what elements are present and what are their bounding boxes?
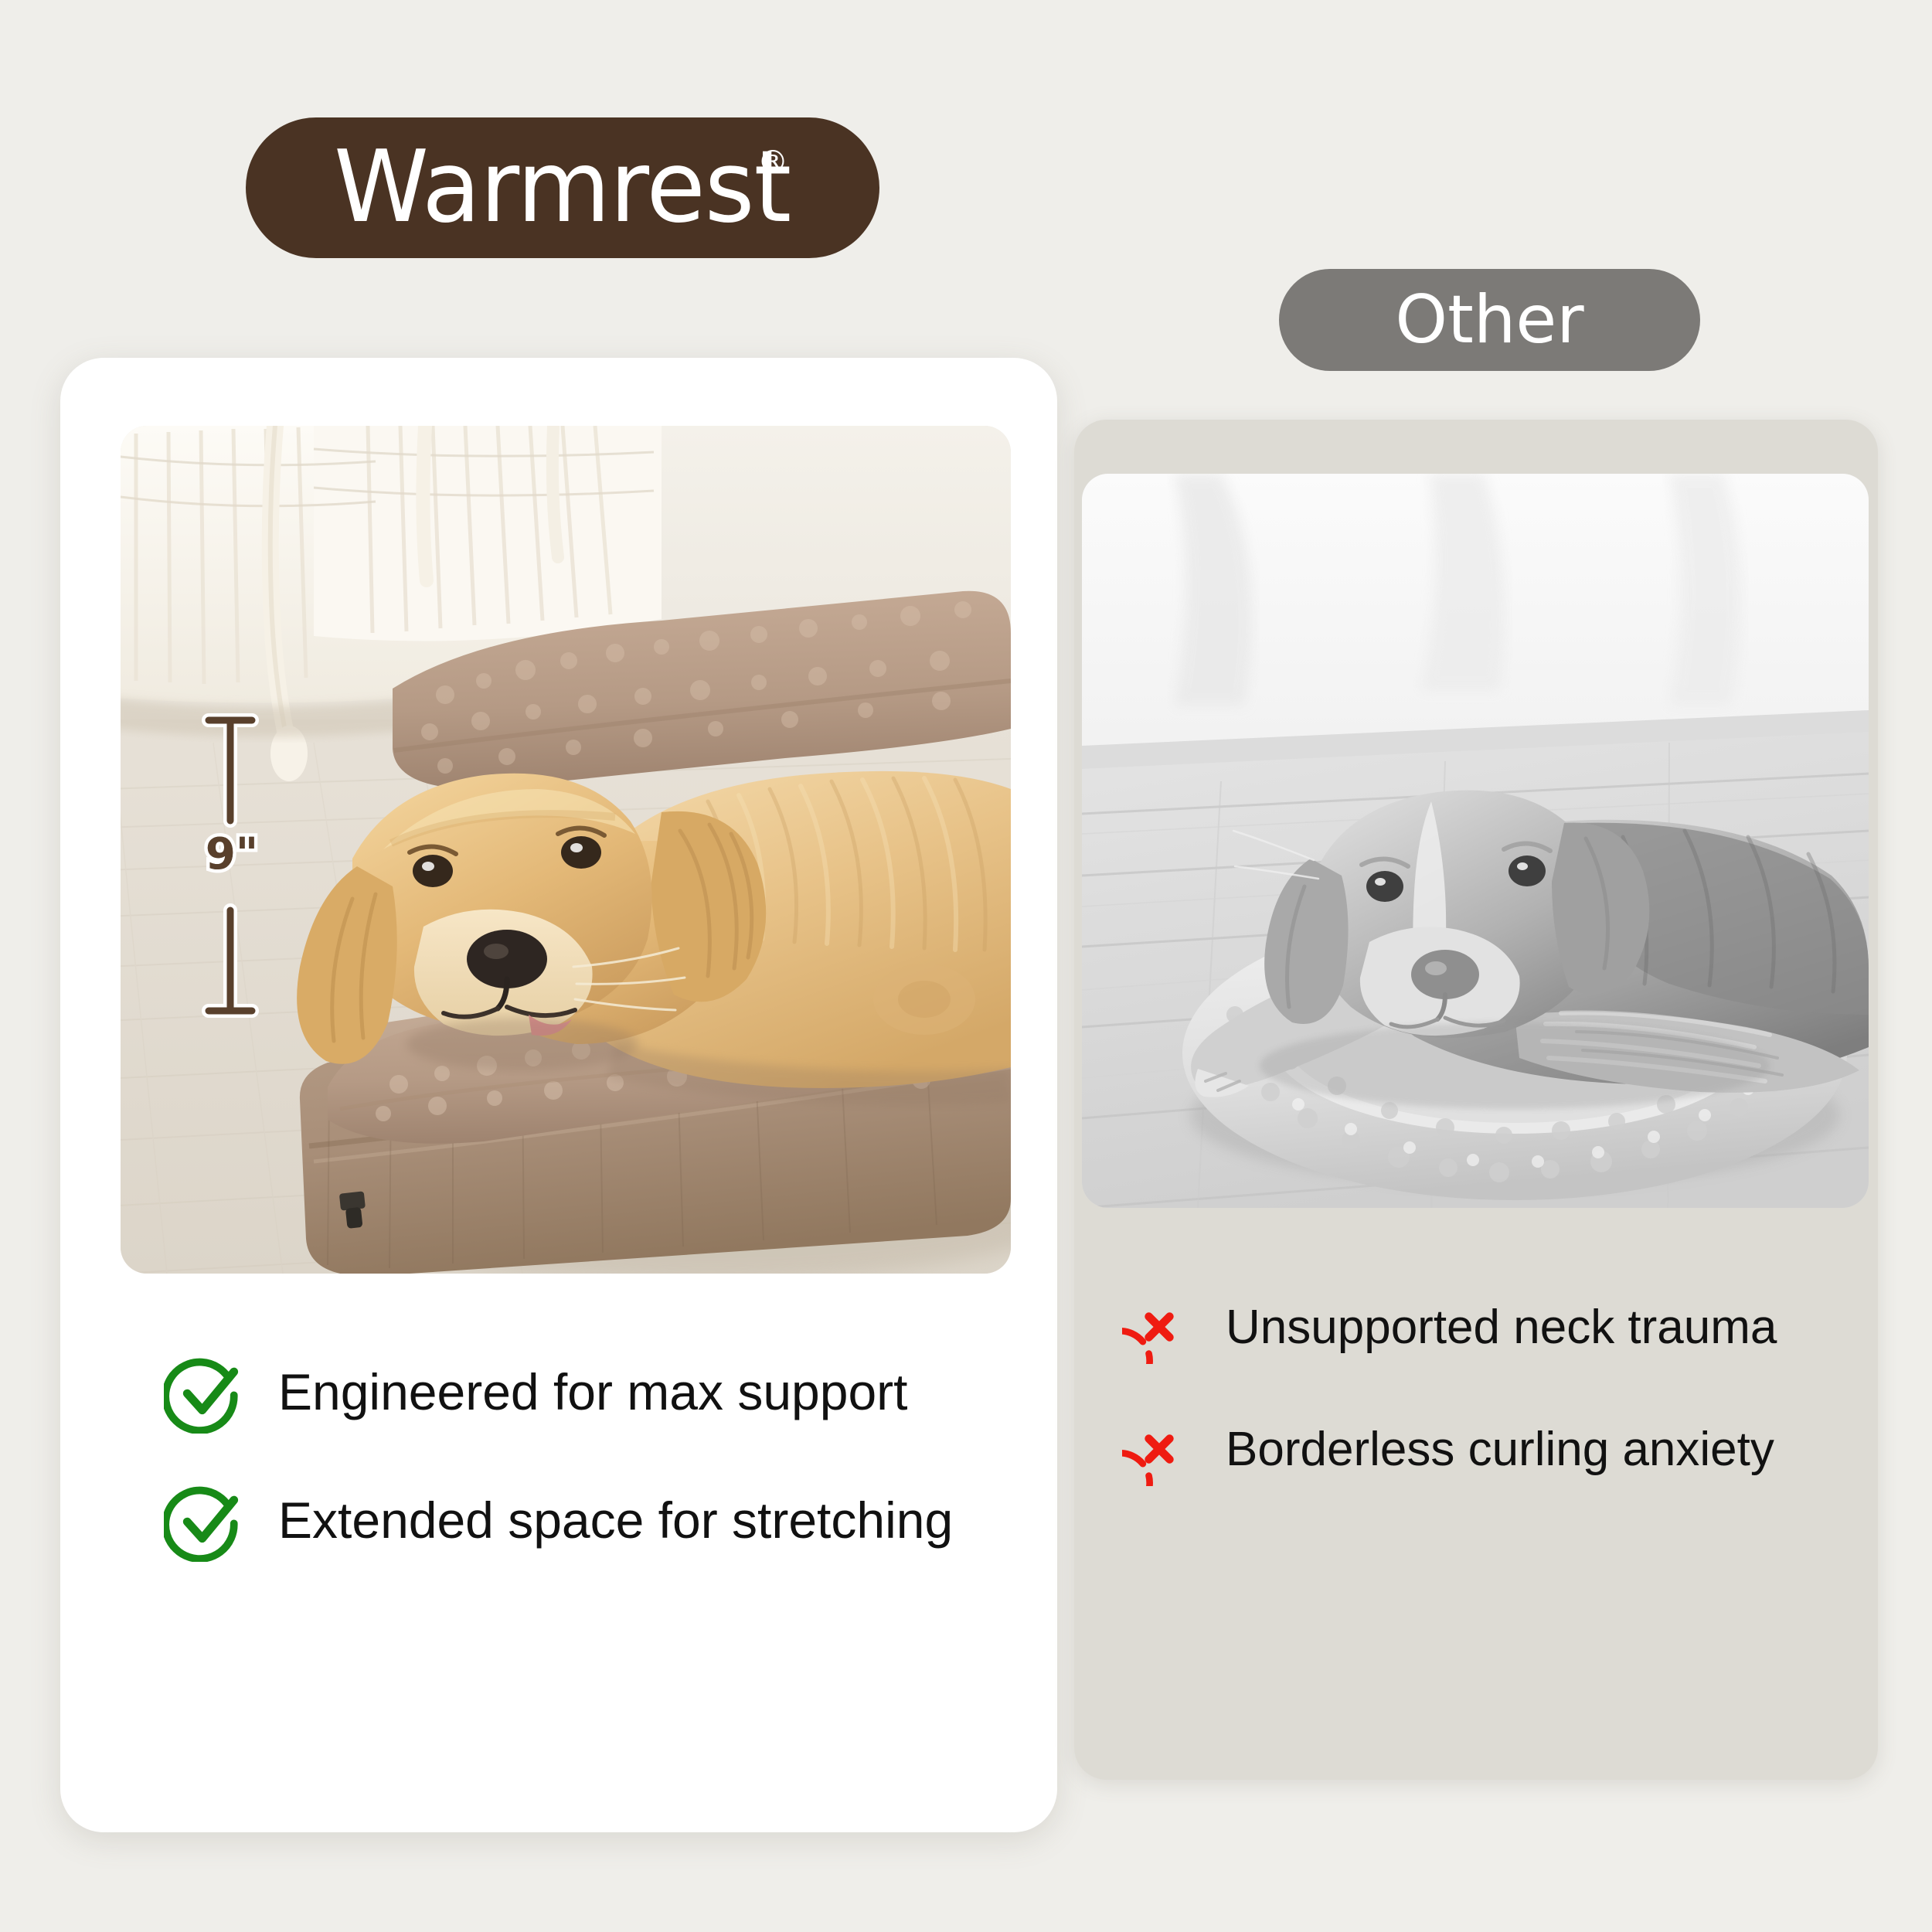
infographic-root: 9" 9" — [0, 0, 1932, 1932]
feature-label: Engineered for max support — [278, 1362, 907, 1421]
feature-row: Extended space for stretching — [164, 1456, 1022, 1584]
warmrest-feature-list: Engineered for max support Extended spac… — [164, 1328, 1022, 1584]
x-circle-icon — [1122, 1290, 1196, 1364]
check-circle-icon — [164, 1350, 247, 1434]
other-product-photo — [1082, 474, 1869, 1208]
warmrest-photo-illustration — [121, 426, 1011, 1274]
feature-row: Engineered for max support — [164, 1328, 1022, 1456]
warmrest-product-photo — [121, 426, 1011, 1274]
other-feature-list: Unsupported neck trauma Borderless curli… — [1122, 1266, 1864, 1510]
other-badge-label: Other — [1395, 287, 1583, 353]
x-circle-icon — [1122, 1412, 1196, 1486]
registered-trademark-icon: ® — [757, 147, 788, 178]
feature-label: Extended space for stretching — [278, 1491, 953, 1549]
brand-wordmark: Warmrest — [334, 138, 791, 237]
other-badge: Other — [1279, 269, 1700, 371]
other-photo-illustration — [1082, 474, 1869, 1208]
brand-badge: Warmrest ® — [246, 117, 879, 258]
feature-label: Borderless curling anxiety — [1226, 1422, 1774, 1477]
feature-label: Unsupported neck trauma — [1226, 1300, 1777, 1355]
feature-row: Borderless curling anxiety — [1122, 1388, 1864, 1510]
check-circle-icon — [164, 1478, 247, 1562]
feature-row: Unsupported neck trauma — [1122, 1266, 1864, 1388]
